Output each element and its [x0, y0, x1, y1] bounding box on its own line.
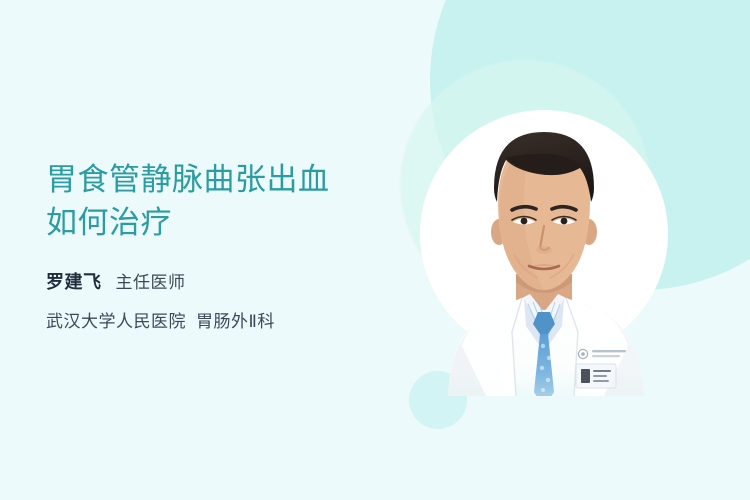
- text-block: 胃食管静脉曲张出血 如何治疗 罗建飞 主任医师 武汉大学人民医院胃肠外Ⅱ科: [46, 158, 426, 332]
- doctor-name: 罗建飞: [46, 268, 102, 294]
- doctor-hospital: 武汉大学人民医院: [46, 312, 186, 331]
- doctor-department: 胃肠外Ⅱ科: [196, 312, 275, 331]
- doctor-portrait: [412, 96, 692, 396]
- doctor-affiliation: 武汉大学人民医院胃肠外Ⅱ科: [46, 307, 426, 332]
- doctor-intro-card: 胃食管静脉曲张出血 如何治疗 罗建飞 主任医师 武汉大学人民医院胃肠外Ⅱ科: [0, 0, 750, 500]
- doctor-job-title: 主任医师: [116, 268, 186, 293]
- doctor-byline: 罗建飞 主任医师: [46, 268, 426, 294]
- page-title: 胃食管静脉曲张出血 如何治疗: [46, 158, 426, 244]
